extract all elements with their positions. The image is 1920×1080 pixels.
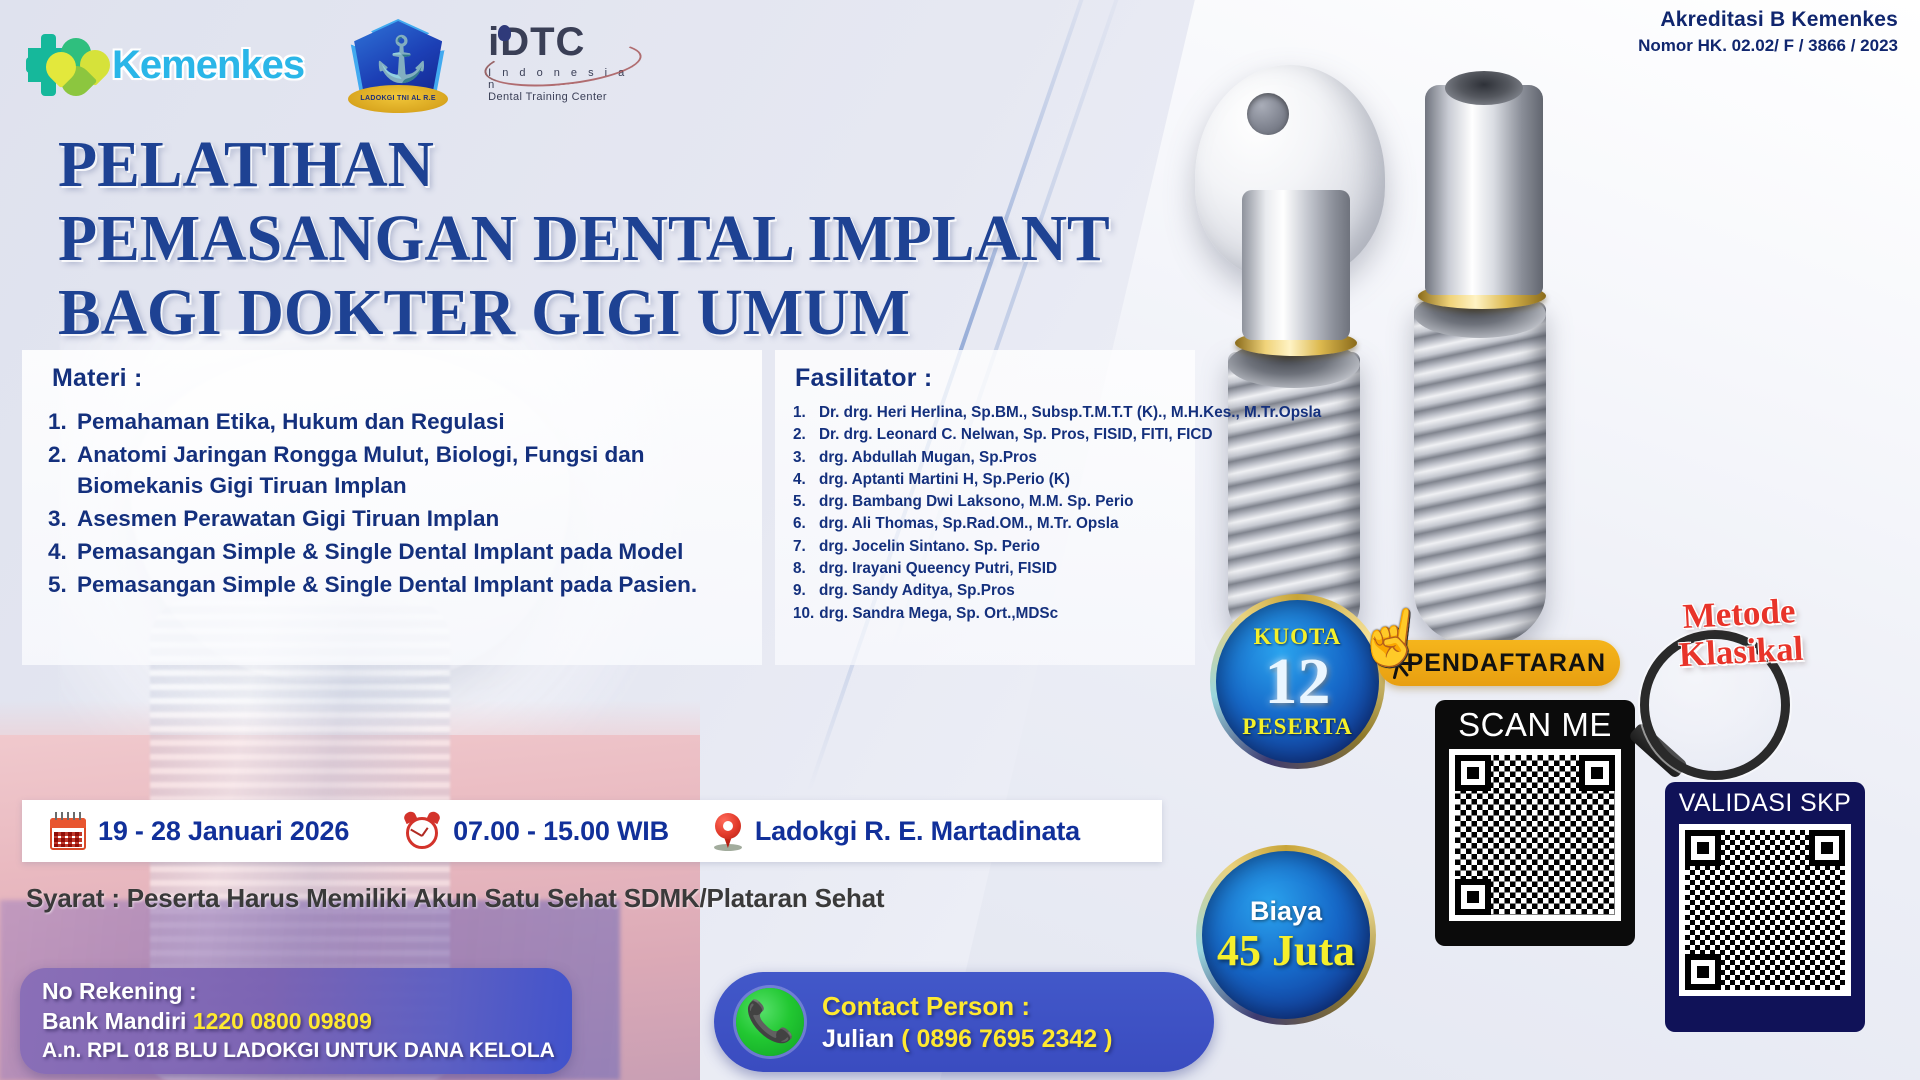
event-location-text: Ladokgi R. E. Martadinata	[755, 816, 1080, 847]
alarm-clock-icon	[403, 812, 441, 850]
location-pin-icon	[713, 811, 743, 851]
qr-code-icon[interactable]	[1679, 824, 1851, 996]
price-amount: 45 Juta	[1217, 927, 1355, 975]
bank-account-card: No Rekening : Bank Mandiri 1220 0800 098…	[20, 968, 572, 1074]
fasilitator-item-number: 6.	[793, 513, 814, 535]
anchor-icon: ⚓	[374, 35, 422, 85]
list-item: 2. Dr. drg. Leonard C. Nelwan, Sp. Pros,…	[793, 424, 1193, 446]
accreditation-block: Akreditasi B Kemenkes Nomor HK. 02.02/ F…	[1638, 8, 1898, 56]
list-item: 7. drg. Jocelin Sintano. Sp. Perio	[793, 536, 1193, 558]
implant-abutment	[1425, 85, 1543, 295]
fasilitator-item-number: 8.	[793, 558, 814, 580]
materi-panel: Materi : 1. Pemahaman Etika, Hukum dan R…	[22, 350, 762, 665]
bank-account-number: 1220 0800 09809	[193, 1008, 372, 1034]
materi-item-number: 4.	[48, 536, 70, 567]
event-date: 19 - 28 Januari 2026	[50, 812, 349, 850]
bank-account-line: Bank Mandiri 1220 0800 09809	[42, 1008, 572, 1035]
title-line-1: PELATIHAN	[58, 128, 1106, 202]
contact-person-line: Julian ( 0896 7695 2342 )	[822, 1025, 1112, 1054]
fasilitator-list: 1. Dr. drg. Heri Herlina, Sp.BM., Subsp.…	[793, 402, 1193, 625]
event-time: 07.00 - 15.00 WIB	[403, 812, 669, 850]
registration-ribbon-label: PENDAFTARAN	[1407, 649, 1606, 678]
fasilitator-item-text: drg. Abdullah Mugan, Sp.Pros	[819, 447, 1037, 469]
list-item: 5. Pemasangan Simple & Single Dental Imp…	[48, 569, 748, 600]
list-item: 1. Dr. drg. Heri Herlina, Sp.BM., Subsp.…	[793, 402, 1193, 424]
materi-item-number: 3.	[48, 503, 70, 534]
fasilitator-item-text: Dr. drg. Leonard C. Nelwan, Sp. Pros, FI…	[819, 424, 1213, 446]
fasilitator-item-text: drg. Irayani Queency Putri, FISID	[819, 558, 1057, 580]
materi-heading: Materi :	[52, 364, 143, 393]
event-time-text: 07.00 - 15.00 WIB	[453, 816, 669, 847]
accreditation-number: Nomor HK. 02.02/ F / 3866 / 2023	[1638, 36, 1898, 56]
method-label: Metode Klasikal	[1648, 590, 1832, 675]
materi-item-number: 1.	[48, 406, 70, 437]
quota-number: 12	[1265, 650, 1331, 714]
kemenkes-logo-icon	[28, 30, 102, 100]
fasilitator-item-number: 10.	[793, 603, 814, 625]
list-item: 9. drg. Sandy Aditya, Sp.Pros	[793, 580, 1193, 602]
bank-name: Bank Mandiri	[42, 1008, 186, 1034]
fasilitator-item-text: drg. Sandy Aditya, Sp.Pros	[819, 580, 1015, 602]
list-item: 2. Anatomi Jaringan Rongga Mulut, Biolog…	[48, 439, 748, 501]
materi-list: 1. Pemahaman Etika, Hukum dan Regulasi 2…	[48, 406, 748, 602]
list-item: 10. drg. Sandra Mega, Sp. Ort.,MDSc	[793, 603, 1193, 625]
list-item: 8. drg. Irayani Queency Putri, FISID	[793, 558, 1193, 580]
fasilitator-item-number: 4.	[793, 469, 814, 491]
event-date-text: 19 - 28 Januari 2026	[98, 816, 349, 847]
list-item: 3. Asesmen Perawatan Gigi Tiruan Implan	[48, 503, 748, 534]
materi-item-number: 2.	[48, 439, 70, 501]
fasilitator-item-text: drg. Sandra Mega, Sp. Ort.,MDSc	[819, 603, 1058, 625]
bank-account-name: A.n. RPL 018 BLU LADOKGI UNTUK DANA KELO…	[42, 1039, 572, 1063]
fasilitator-item-text: drg. Bambang Dwi Laksono, M.M. Sp. Perio	[819, 491, 1133, 513]
quota-unit: PESERTA	[1242, 714, 1353, 740]
event-info-bar: 19 - 28 Januari 2026 07.00 - 15.00 WIB L…	[22, 800, 1162, 862]
calendar-icon	[50, 812, 86, 850]
title-line-2: PEMASANGAN DENTAL IMPLANT	[58, 202, 1106, 276]
contact-person-text: Contact Person : Julian ( 0896 7695 2342…	[822, 991, 1112, 1054]
fasilitator-item-number: 9.	[793, 580, 814, 602]
fasilitator-item-number: 1.	[793, 402, 814, 424]
fasilitator-item-number: 5.	[793, 491, 814, 513]
implant-crown-base	[1242, 190, 1350, 340]
contact-person-card[interactable]: 📞 Contact Person : Julian ( 0896 7695 23…	[714, 972, 1214, 1072]
materi-item-number: 5.	[48, 569, 70, 600]
whatsapp-icon[interactable]: 📞	[736, 988, 804, 1056]
kemenkes-logo: Kemenkes	[28, 30, 304, 100]
fasilitator-item-text: drg. Jocelin Sintano. Sp. Perio	[819, 536, 1040, 558]
contact-person-heading: Contact Person :	[822, 991, 1112, 1022]
fasilitator-heading: Fasilitator :	[795, 364, 932, 393]
price-label: Biaya	[1250, 896, 1322, 927]
idtc-logo: iDTC I n d o n e s i a n Dental Training…	[488, 21, 638, 109]
ladokgi-ribbon-text: LADOKGI TNI AL R.E MARTADINATA	[348, 85, 448, 113]
materi-item-text: Pemasangan Simple & Single Dental Implan…	[77, 569, 697, 600]
materi-item-text: Pemahaman Etika, Hukum dan Regulasi	[77, 406, 505, 437]
list-item: 4. Pemasangan Simple & Single Dental Imp…	[48, 536, 748, 567]
kemenkes-wordmark: Kemenkes	[112, 43, 304, 88]
bank-account-heading: No Rekening :	[42, 978, 572, 1005]
fasilitator-item-number: 3.	[793, 447, 814, 469]
list-item: 6. drg. Ali Thomas, Sp.Rad.OM., M.Tr. Op…	[793, 513, 1193, 535]
fasilitator-item-text: drg. Ali Thomas, Sp.Rad.OM., M.Tr. Opsla	[819, 513, 1118, 535]
materi-item-text: Anatomi Jaringan Rongga Mulut, Biologi, …	[77, 439, 748, 501]
page-title: PELATIHAN PEMASANGAN DENTAL IMPLANT BAGI…	[58, 128, 1138, 350]
idtc-dot-icon	[498, 25, 511, 41]
fasilitator-item-text: Dr. drg. Heri Herlina, Sp.BM., Subsp.T.M…	[819, 402, 1321, 424]
accreditation-title: Akreditasi B Kemenkes	[1638, 8, 1898, 32]
list-item: 5. drg. Bambang Dwi Laksono, M.M. Sp. Pe…	[793, 491, 1193, 513]
implant-screw-right	[1414, 302, 1546, 647]
ladokgi-logo-icon: ⚓ LADOKGI TNI AL R.E MARTADINATA	[348, 19, 448, 111]
materi-item-text: Asesmen Perawatan Gigi Tiruan Implan	[77, 503, 499, 534]
qr-code-icon[interactable]	[1449, 749, 1621, 921]
list-item: 4. drg. Aptanti Martini H, Sp.Perio (K)	[793, 469, 1193, 491]
fasilitator-panel: Fasilitator : 1. Dr. drg. Heri Herlina, …	[775, 350, 1195, 665]
contact-person-phone: ( 0896 7695 2342 )	[901, 1025, 1112, 1053]
materi-item-text: Pemasangan Simple & Single Dental Implan…	[77, 536, 683, 567]
event-location: Ladokgi R. E. Martadinata	[713, 811, 1080, 851]
price-badge: Biaya 45 Juta	[1196, 845, 1376, 1025]
poster-root: Kemenkes ⚓ LADOKGI TNI AL R.E MARTADINAT…	[0, 0, 1920, 1080]
list-item: 1. Pemahaman Etika, Hukum dan Regulasi	[48, 406, 748, 437]
pointing-hand-icon: ☝	[1351, 593, 1433, 680]
skp-validation-qr-card[interactable]: VALIDASI SKP	[1665, 782, 1865, 1032]
fasilitator-item-number: 2.	[793, 424, 814, 446]
validasi-skp-label: VALIDASI SKP	[1679, 789, 1851, 818]
requirement-text: Syarat : Peserta Harus Memiliki Akun Sat…	[26, 883, 884, 914]
scan-me-label: SCAN ME	[1458, 706, 1612, 744]
contact-person-name: Julian	[822, 1025, 894, 1053]
title-line-3: BAGI DOKTER GIGI UMUM	[58, 276, 1106, 350]
list-item: 3. drg. Abdullah Mugan, Sp.Pros	[793, 447, 1193, 469]
logo-bar: Kemenkes ⚓ LADOKGI TNI AL R.E MARTADINAT…	[28, 16, 638, 114]
dental-implant-photo	[1180, 40, 1610, 660]
idtc-subtitle-name: Dental Training Center	[488, 91, 638, 103]
fasilitator-item-number: 7.	[793, 536, 814, 558]
registration-qr-card[interactable]: SCAN ME	[1435, 700, 1635, 946]
fasilitator-item-text: drg. Aptanti Martini H, Sp.Perio (K)	[819, 469, 1070, 491]
